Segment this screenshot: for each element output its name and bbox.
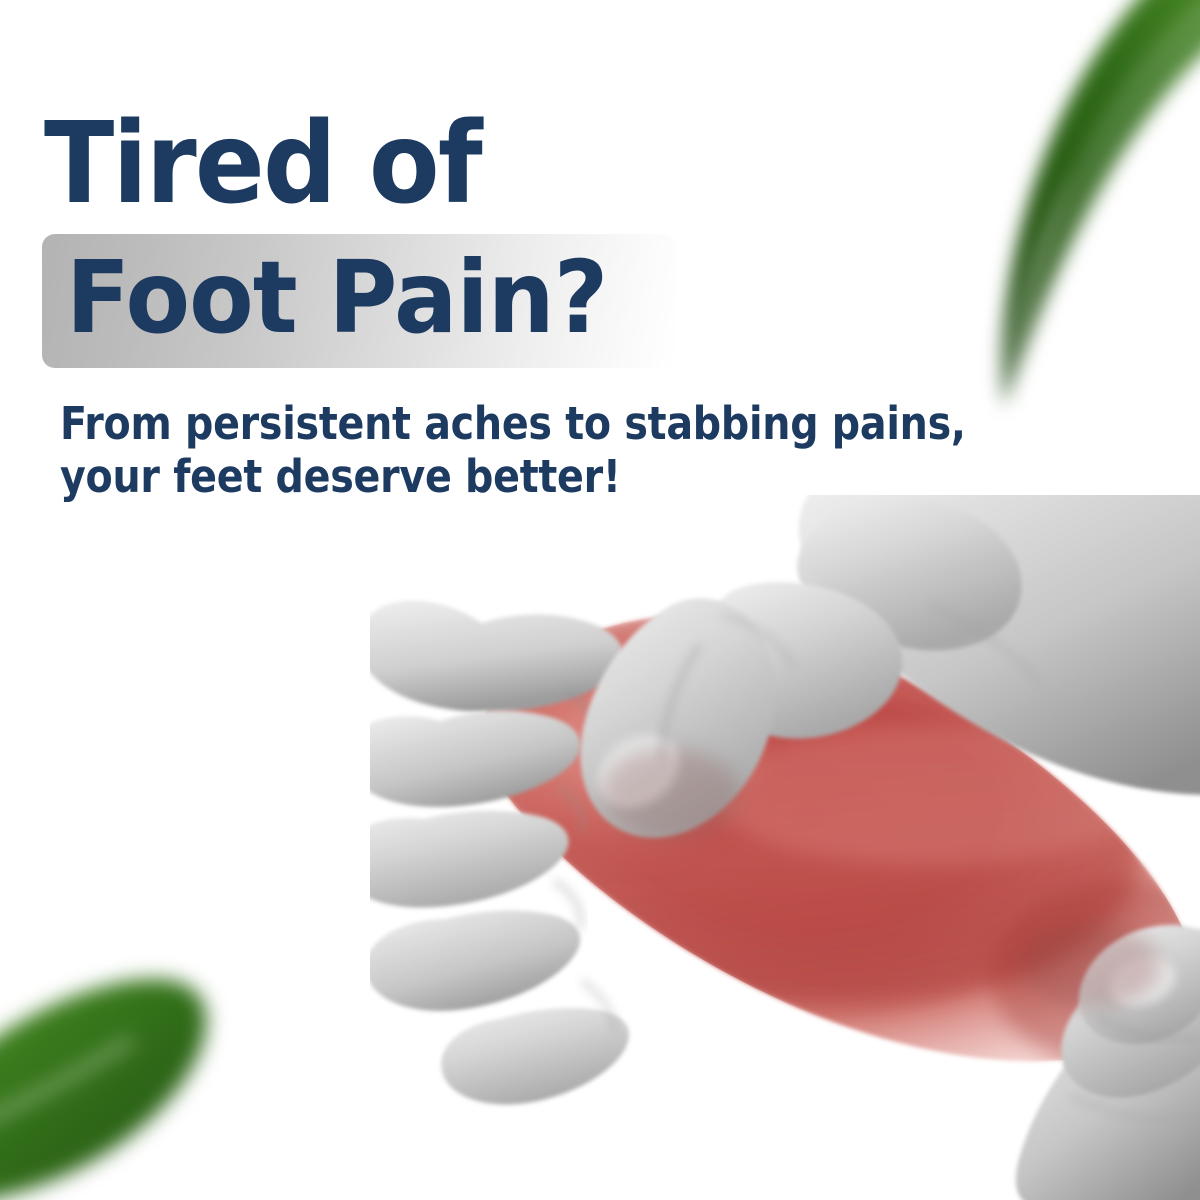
leaf-icon-bottom-left [0,924,235,1200]
foot-pain-massage-photo [370,495,1200,1200]
headline-line-1: Tired of [44,108,999,220]
headline-block: Tired of Foot Pain? From persistent ache… [42,108,1082,503]
headline-banner-gradient: Foot Pain? [42,234,676,368]
subheadline: From persistent aches to stabbing pains,… [60,398,959,503]
subheadline-line-1: From persistent aches to stabbing pains, [60,398,959,451]
headline-line-2: Foot Pain? [66,248,607,348]
poster-canvas: Tired of Foot Pain? From persistent ache… [0,0,1200,1200]
